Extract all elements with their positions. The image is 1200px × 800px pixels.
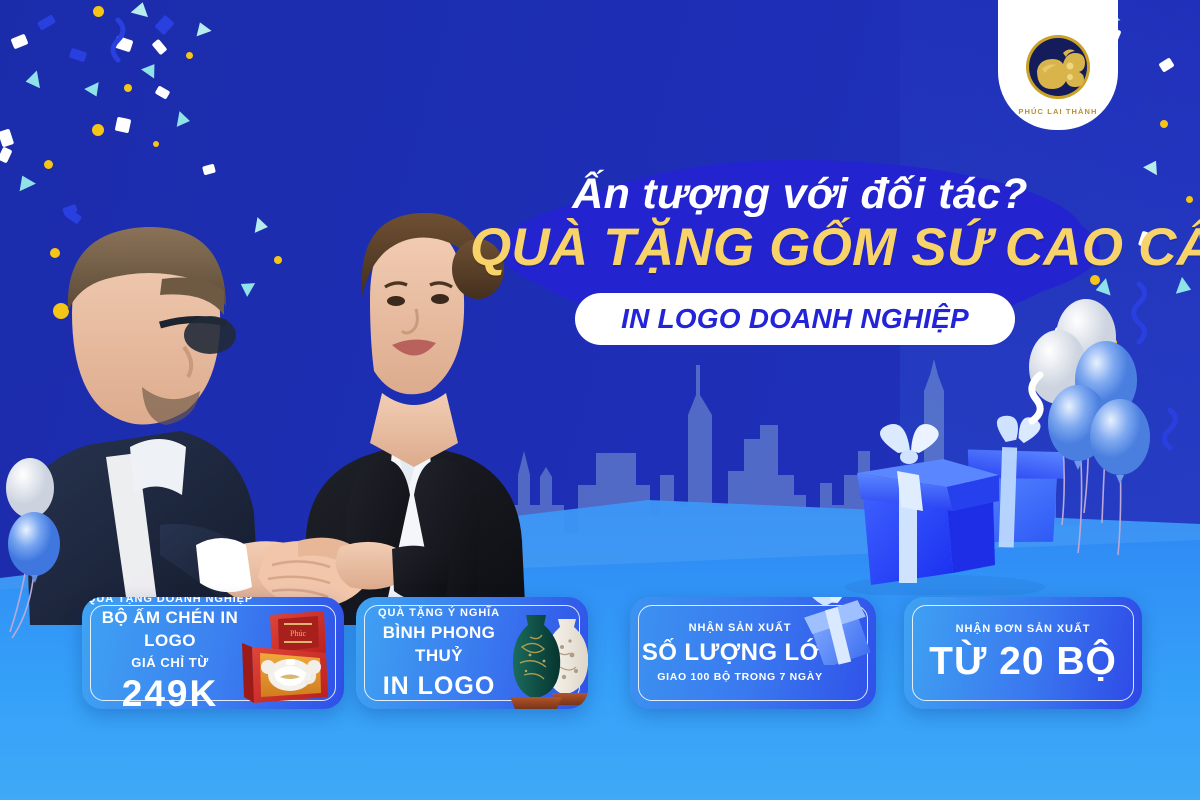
feature-cards: QUÀ TẶNG DOANH NGHIỆP BỘ ẤM CHÉN IN LOGO…: [0, 597, 1200, 722]
brand-logo-badge[interactable]: PHÚC LAI THÀNH: [998, 0, 1118, 130]
promo-banner: PHÚC LAI THÀNH Ấn tượng với đối tác? QUÀ…: [0, 0, 1200, 800]
card-1-price: 249K: [122, 673, 218, 709]
cta-pill-label: IN LOGO DOANH NGHIỆP: [621, 303, 969, 335]
card-4-text: NHẬN ĐƠN SẢN XUẤT TỪ 20 BỘ: [904, 597, 1142, 709]
gift-box-icon: [798, 597, 876, 665]
card-4-line-1: NHẬN ĐƠN SẢN XUẤT: [956, 621, 1091, 638]
feature-card-vases[interactable]: QUÀ TẶNG Ý NGHĨA BÌNH PHONG THUỶ IN LOGO: [356, 597, 588, 709]
feature-card-bulk[interactable]: NHẬN SẢN XUẤT SỐ LƯỢNG LỚN GIAO 100 BỘ T…: [630, 597, 876, 709]
cta-pill[interactable]: IN LOGO DOANH NGHIỆP: [575, 293, 1015, 345]
feature-card-teaset[interactable]: QUÀ TẶNG DOANH NGHIỆP BỘ ẤM CHÉN IN LOGO…: [82, 597, 344, 709]
card-1-line-2: BỘ ẤM CHÉN IN LOGO: [86, 607, 254, 653]
card-2-line-2: BÌNH PHONG THUỶ: [364, 622, 514, 668]
card-2-line-4: IN LOGO: [383, 672, 496, 701]
card-1-line-3: GIÁ CHỈ TỪ: [131, 653, 208, 673]
card-2-text: QUÀ TẶNG Ý NGHĨA BÌNH PHONG THUỶ IN LOGO: [364, 597, 514, 709]
card-4-line-4: TỪ 20 BỘ: [929, 640, 1117, 685]
dragon-emblem-icon: [1024, 33, 1092, 101]
card-1-text: QUÀ TẶNG DOANH NGHIỆP BỘ ẤM CHÉN IN LOGO…: [86, 597, 254, 709]
card-2-line-1: QUÀ TẶNG Ý NGHĨA: [378, 605, 500, 622]
headline-block: Ấn tượng với đối tác? QUÀ TẶNG GỐM SỨ CA…: [470, 150, 1130, 365]
card-3-line-1: NHẬN SẢN XUẤT: [689, 620, 792, 637]
svg-text:Phúc: Phúc: [290, 629, 306, 638]
porcelain-vases-icon: [500, 603, 588, 709]
headline-line-2: QUÀ TẶNG GỐM SỨ CAO CẤP: [470, 220, 1130, 276]
red-gift-box-teaset-icon: Phúc: [230, 601, 344, 709]
feature-card-minimum-order[interactable]: NHẬN ĐƠN SẢN XUẤT TỪ 20 BỘ: [904, 597, 1142, 709]
card-3-line-3: GIAO 100 BỘ TRONG 7 NGÀY: [657, 669, 823, 686]
headline-line-1: Ấn tượng với đối tác?: [470, 172, 1130, 217]
card-1-line-1: QUÀ TẶNG DOANH NGHIỆP: [87, 597, 253, 607]
brand-logo-name: PHÚC LAI THÀNH: [1018, 107, 1097, 116]
